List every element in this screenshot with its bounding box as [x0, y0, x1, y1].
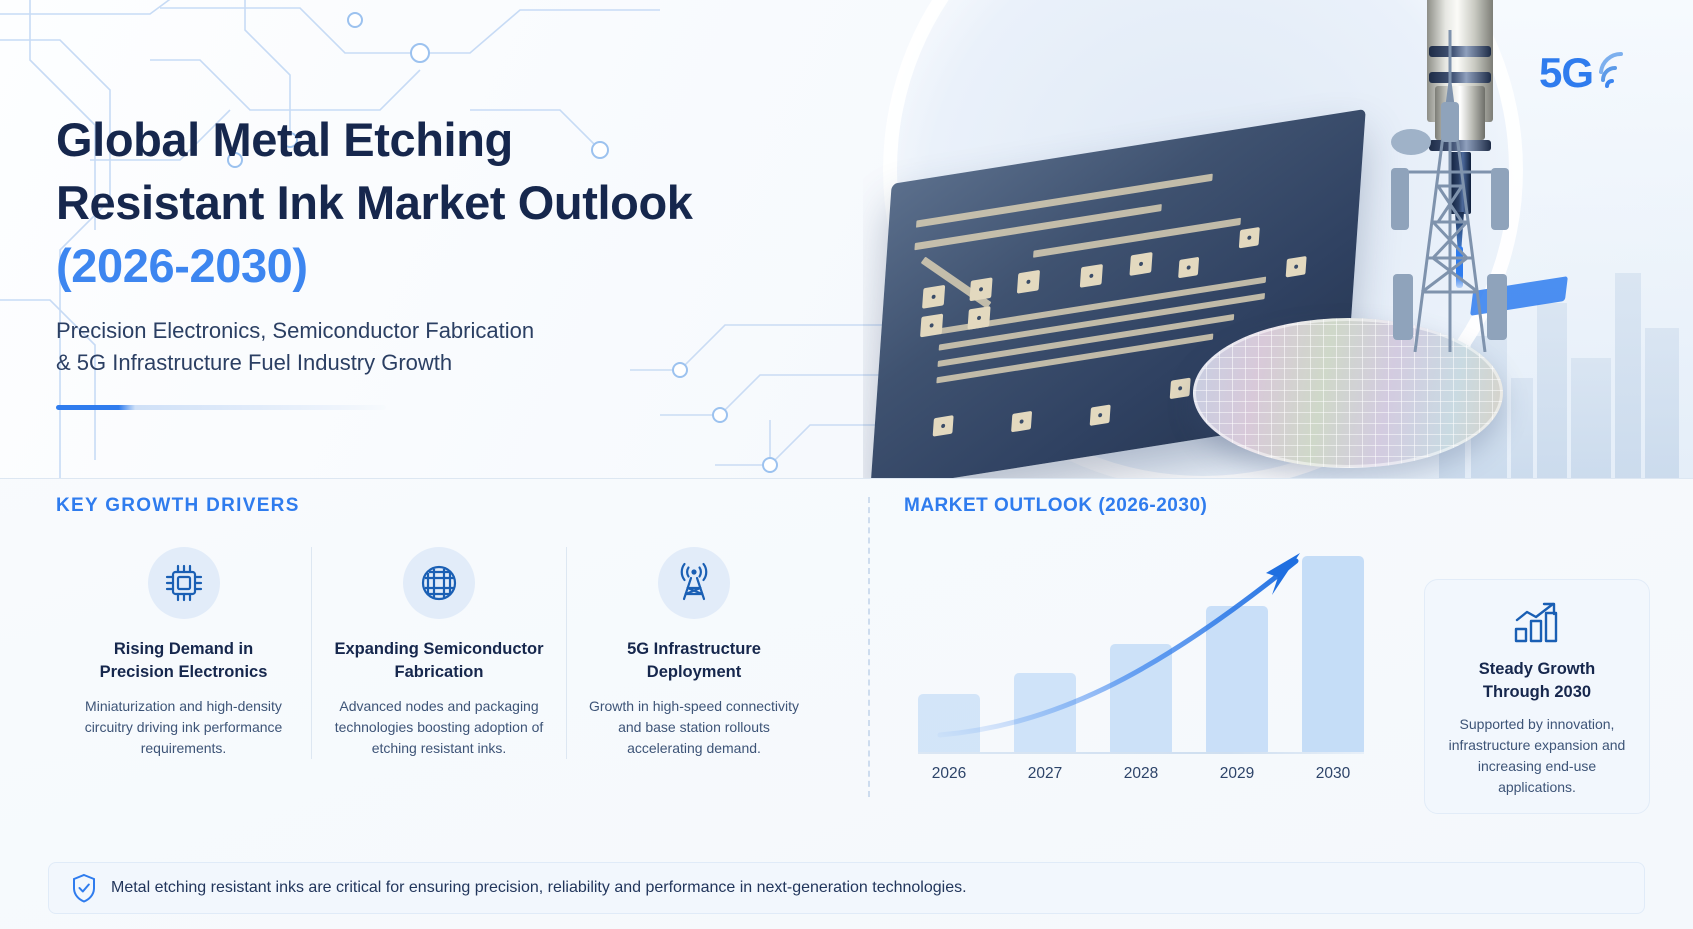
market-outlook-chart: MARKET OUTLOOK (2026-2030) — [900, 495, 1380, 815]
driver-description: Growth in high-speed connectivity and ba… — [581, 696, 807, 759]
page-title-line1: Global Metal Etching — [56, 108, 876, 171]
bar-2027[interactable] — [1014, 673, 1076, 753]
steady-growth-description: Supported by innovation, infrastructure … — [1441, 714, 1633, 798]
chart-bars — [918, 543, 1364, 753]
driver-title: 5G Infrastructure Deployment — [581, 638, 807, 684]
driver-title: Rising Demand in Precision Electronics — [70, 638, 297, 684]
driver-title-line1: Expanding Semiconductor — [326, 638, 552, 661]
chart-x-axis-labels: 2026 2027 2028 2029 2030 — [918, 765, 1364, 783]
page-title-years: (2026-2030) — [56, 234, 876, 297]
driver-title-line1: Rising Demand in — [70, 638, 297, 661]
x-label-2028: 2028 — [1110, 765, 1172, 783]
5g-badge-label: 5G — [1539, 52, 1593, 94]
section-label-drivers: KEY GROWTH DRIVERS — [56, 495, 856, 517]
driver-card-semiconductor-fabrication[interactable]: Expanding Semiconductor Fabrication Adva… — [311, 547, 566, 759]
5g-badge: 5G — [1539, 52, 1641, 94]
hero-subtitle-line2: & 5G Infrastructure Fuel Industry Growth — [56, 347, 876, 379]
x-label-2030: 2030 — [1302, 765, 1364, 783]
microchip-icon — [148, 547, 220, 619]
hero-text-block: Global Metal Etching Resistant Ink Marke… — [56, 108, 876, 410]
shield-check-icon — [71, 873, 97, 903]
steady-growth-card[interactable]: Steady Growth Through 2030 Supported by … — [1424, 579, 1650, 814]
driver-card-row: Rising Demand in Precision Electronics M… — [56, 547, 856, 759]
hero-subtitle-line1: Precision Electronics, Semiconductor Fab… — [56, 315, 876, 347]
bar-2026[interactable] — [918, 694, 980, 753]
driver-title-line2: Precision Electronics — [70, 661, 297, 684]
bar-2028[interactable] — [1110, 644, 1172, 753]
driver-title-line2: Fabrication — [326, 661, 552, 684]
steady-growth-title-line1: Steady Growth — [1441, 658, 1633, 681]
footer-text: Metal etching resistant inks are critica… — [111, 879, 967, 897]
steady-growth-title: Steady Growth Through 2030 — [1441, 658, 1633, 704]
driver-card-precision-electronics[interactable]: Rising Demand in Precision Electronics M… — [56, 547, 311, 759]
page-title-line2: Resistant Ink Market Outlook — [56, 171, 876, 234]
footer-banner: Metal etching resistant inks are critica… — [48, 862, 1645, 914]
wafer-grid-icon — [403, 547, 475, 619]
chart-title: MARKET OUTLOOK (2026-2030) — [904, 495, 1380, 517]
driver-description: Miniaturization and high-density circuit… — [70, 696, 297, 759]
chart-axis-line — [918, 752, 1364, 754]
cell-tower-icon — [658, 547, 730, 619]
driver-title-line1: 5G Infrastructure — [581, 638, 807, 661]
driver-title: Expanding Semiconductor Fabrication — [326, 638, 552, 684]
bar-2029[interactable] — [1206, 606, 1268, 753]
infographic-page: Global Metal Etching Resistant Ink Marke… — [0, 0, 1693, 929]
steady-growth-title-line2: Through 2030 — [1441, 681, 1633, 704]
x-label-2026: 2026 — [918, 765, 980, 783]
driver-card-5g-infrastructure[interactable]: 5G Infrastructure Deployment Growth in h… — [566, 547, 821, 759]
hero-subtitle: Precision Electronics, Semiconductor Fab… — [56, 315, 876, 379]
hero-image-collage: 5G — [863, 0, 1693, 478]
driver-description: Advanced nodes and packaging technologie… — [326, 696, 552, 759]
driver-title-line2: Deployment — [581, 661, 807, 684]
chart-plot-area: 2026 2027 2028 2029 2030 — [900, 539, 1380, 779]
hero-section: Global Metal Etching Resistant Ink Marke… — [0, 0, 1693, 478]
cell-tower-icon — [1375, 22, 1525, 352]
bar-2030[interactable] — [1302, 556, 1364, 753]
wifi-signal-icon — [1597, 52, 1641, 92]
key-growth-drivers-panel: KEY GROWTH DRIVERS — [56, 495, 856, 759]
body-section: KEY GROWTH DRIVERS — [0, 479, 1693, 851]
vertical-dashed-divider — [868, 497, 870, 797]
growth-bar-chart-icon — [1441, 598, 1633, 648]
x-label-2027: 2027 — [1014, 765, 1076, 783]
x-label-2029: 2029 — [1206, 765, 1268, 783]
accent-divider-bar — [56, 405, 386, 410]
